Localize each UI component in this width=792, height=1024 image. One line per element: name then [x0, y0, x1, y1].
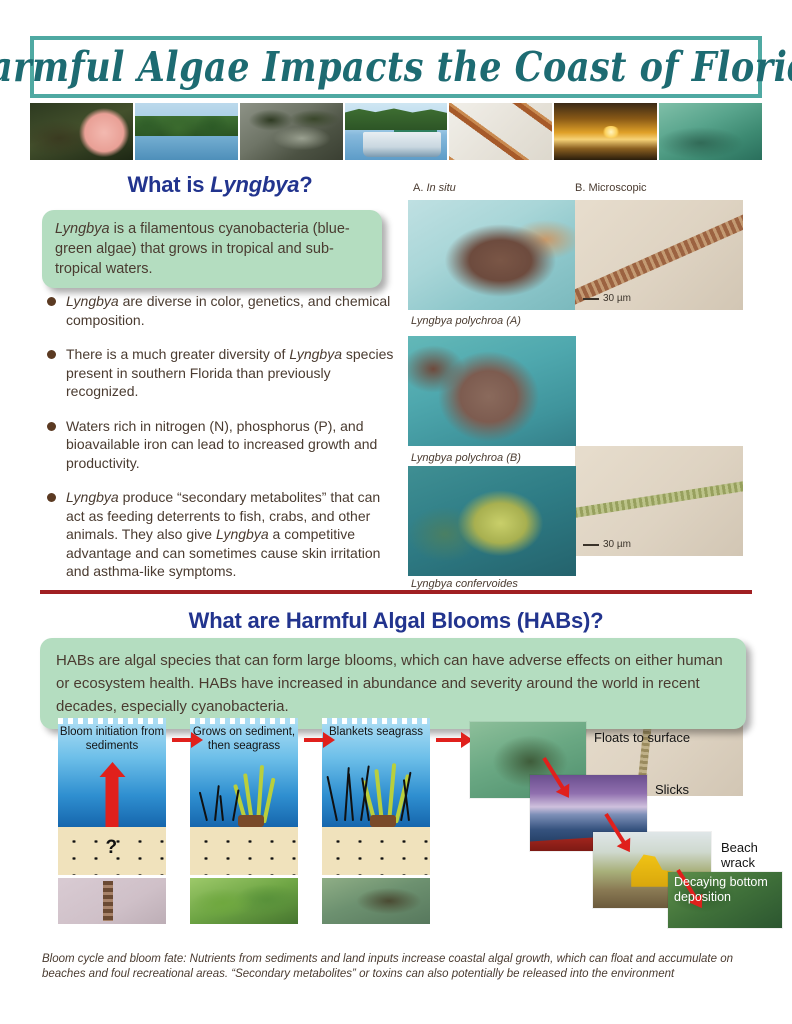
list-item: Lyngbya are diverse in color, genetics, … [42, 292, 402, 329]
boat-tour-group-photo [345, 103, 448, 160]
bloom-cycle-diagram: Bloom initiation from sediments ? Grows … [40, 722, 752, 942]
bullet-text: There is a much greater diversity of [66, 346, 289, 362]
stage-label: Grows on sediment, then seagrass [190, 726, 298, 753]
microscope-filament-thumbnail [58, 878, 166, 924]
bullet-italic-term: Lyngbya [66, 293, 119, 309]
fate-label-beach-wrack: Beach wrack [721, 840, 758, 870]
lyngbya-bullet-list: Lyngbya are diverse in color, genetics, … [42, 292, 402, 597]
hand-holding-algae-photo [30, 103, 133, 160]
section-heading-habs: What are Harmful Algal Blooms (HABs)? [30, 608, 762, 634]
section-heading-lyngbya: What is Lyngbya? [60, 172, 380, 198]
in-situ-photo-lyngbya-polychroa-b [408, 336, 576, 446]
lyngbya-definition-callout: Lyngbya is a filamentous cyanobacteria (… [42, 210, 382, 288]
heading-suffix: ? [299, 172, 312, 197]
scale-bar-line-icon [583, 298, 599, 300]
fate-label-slicks: Slicks [655, 782, 689, 797]
scale-bar-line-icon [583, 544, 599, 546]
mangrove-shoreline-photo [135, 103, 238, 160]
list-item: There is a much greater diversity of Lyn… [42, 345, 402, 401]
bloom-stage-1: Bloom initiation from sediments ? [58, 722, 166, 924]
heading-prefix: What is [127, 172, 210, 197]
bloom-cycle-caption: Bloom cycle and bloom fate: Nutrients fr… [42, 952, 754, 981]
figure-caption: Lyngbya confervoides [411, 578, 518, 590]
fate-label-floats-to-surface: Floats to surface [594, 730, 690, 745]
figure-column-label-microscopic: B. Microscopic [575, 182, 647, 194]
in-situ-photo-lyngbya-confervoides [408, 466, 576, 576]
column-a-italic: In situ [426, 182, 455, 194]
column-a-prefix: A. [413, 182, 426, 194]
question-mark-icon: ? [106, 837, 118, 859]
water-column-panel: Bloom initiation from sediments [58, 722, 166, 827]
microscopic-photo-lyngbya-polychroa-b: 30 µm [575, 446, 743, 556]
scale-bar: 30 µm [583, 293, 631, 304]
figure-caption: Lyngbya polychroa (B) [411, 452, 521, 464]
underwater-seagrass-thumbnail [322, 878, 430, 924]
scale-bar-label: 30 µm [603, 539, 631, 550]
water-column-panel: Grows on sediment, then seagrass [190, 722, 298, 827]
header-photo-strip [30, 103, 762, 160]
sediment-layer [322, 827, 430, 875]
bloom-stage-2: Grows on sediment, then seagrass [190, 722, 298, 924]
bullet-italic-term: Lyngbya [66, 489, 119, 505]
rocky-shore-algae-photo [240, 103, 343, 160]
seagrass-illustration [190, 765, 298, 827]
bullet-text: Waters rich in nitrogen (N), phosphorus … [66, 418, 377, 471]
green-algae-mass-thumbnail [190, 878, 298, 924]
callout-italic-term: Lyngbya [55, 221, 110, 237]
heading-italic-term: Lyngbya [210, 172, 299, 197]
seagrass-blanketed-illustration [322, 765, 430, 827]
sediment-layer [190, 827, 298, 875]
bullet-italic-term-2: Lyngbya [216, 526, 269, 542]
water-column-panel: Blankets seagrass [322, 722, 430, 827]
bullet-dot-icon [47, 422, 56, 431]
sediment-dots-icon [322, 827, 430, 875]
bullet-dot-icon [47, 493, 56, 502]
stage-label: Bloom initiation from sediments [58, 726, 166, 753]
stage-label: Blankets seagrass [322, 726, 430, 740]
underwater-green-water-photo [659, 103, 762, 160]
scale-bar-label: 30 µm [603, 293, 631, 304]
stage-arrow-icon [172, 738, 192, 742]
bloom-stage-3: Blankets seagrass [322, 722, 430, 924]
sediment-dots-icon [190, 827, 298, 875]
fate-label-decaying-bottom-deposition: Decaying bottom deposition [674, 875, 782, 905]
list-item: Waters rich in nitrogen (N), phosphorus … [42, 417, 402, 473]
section-divider [40, 590, 752, 594]
upward-arrow-icon [106, 775, 119, 827]
sediment-layer: ? [58, 827, 166, 875]
figure-column-label-in-situ: A. In situ [413, 182, 456, 194]
stage-arrow-icon [436, 738, 462, 742]
bullet-italic-term: Lyngbya [289, 346, 342, 362]
bullet-dot-icon [47, 350, 56, 359]
page-title: Harmful Algae Impacts the Coast of Flori… [0, 43, 792, 91]
microscopic-filaments-photo [449, 103, 552, 160]
bullet-dot-icon [47, 297, 56, 306]
figure-caption: Lyngbya polychroa (A) [411, 315, 521, 327]
seagrass-root-icon [370, 815, 396, 827]
microscopic-photo-lyngbya-polychroa-a: 30 µm [575, 200, 743, 310]
stage-arrow-icon [304, 738, 324, 742]
list-item: Lyngbya produce “secondary metabolites” … [42, 488, 402, 581]
habs-definition-callout: HABs are algal species that can form lar… [40, 638, 746, 729]
seagrass-root-icon [238, 815, 264, 827]
poster-title-box: Harmful Algae Impacts the Coast of Flori… [30, 36, 762, 98]
in-situ-photo-lyngbya-polychroa-a [408, 200, 576, 310]
scale-bar: 30 µm [583, 539, 631, 550]
sunset-over-water-photo [554, 103, 657, 160]
